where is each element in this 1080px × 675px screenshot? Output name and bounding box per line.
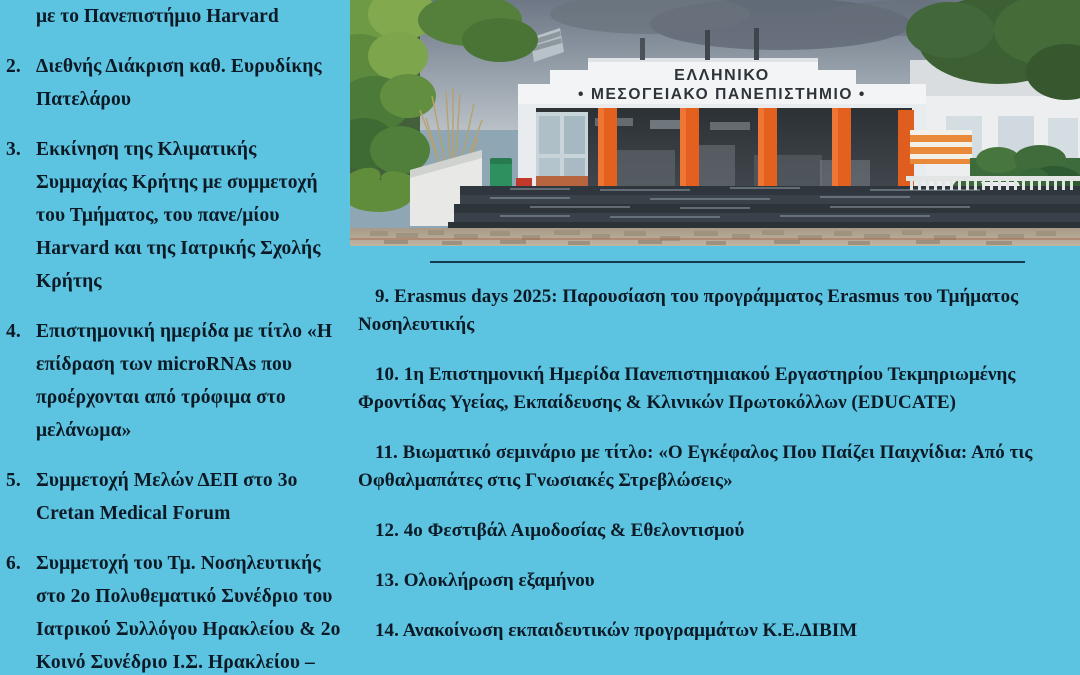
list-item: 10. 1η Επιστημονική Ημερίδα Πανεπιστημια… (358, 361, 1050, 417)
list-item-number: 6. (6, 547, 32, 580)
list-item-text: Συμμετοχή Μελών ΔΕΠ στο 3ο Cretan Medica… (36, 464, 342, 530)
list-item: 14. Ανακοίνωση εκπαιδευτικών προγραμμάτω… (358, 617, 1050, 645)
left-item-continuation-line: με το Πανεπιστήμιο Harvard (0, 0, 350, 33)
list-item-text: Εκκίνηση της Κλιματικής Συμμαχίας Κρήτης… (36, 133, 342, 298)
list-item-text: Συμμετοχή του Τμ. Νοσηλευτικής στο 2ο Πο… (36, 547, 342, 675)
list-item-number: 5. (6, 464, 32, 497)
list-item: 4. Επιστημονική ημερίδα με τίτλο «Η επίδ… (0, 315, 350, 447)
list-item: 2. Διεθνής Διάκριση καθ. Ευρυδίκης Πατελ… (0, 50, 350, 116)
left-column: με το Πανεπιστήμιο Harvard 2. Διεθνής Δι… (0, 0, 350, 675)
list-item-number: 4. (6, 315, 32, 348)
building-sign-line1: ΕΛΛΗΝΙΚΟ (674, 67, 770, 84)
list-item-text: Διεθνής Διάκριση καθ. Ευρυδίκης Πατελάρο… (36, 50, 342, 116)
university-building-photo: ΕΛΛΗΝΙΚΟ • ΜΕΣΟΓΕΙΑΚΟ ΠΑΝΕΠΙΣΤΗΜΙΟ • (350, 0, 1080, 246)
poster-page: με το Πανεπιστήμιο Harvard 2. Διεθνής Δι… (0, 0, 1080, 675)
list-item-number: 2. (6, 50, 32, 83)
right-column: ΕΛΛΗΝΙΚΟ • ΜΕΣΟΓΕΙΑΚΟ ΠΑΝΕΠΙΣΤΗΜΙΟ • (350, 0, 1080, 675)
list-item: 3. Εκκίνηση της Κλιματικής Συμμαχίας Κρή… (0, 133, 350, 298)
list-item: 11. Βιωματικό σεμινάριο με τίτλο: «Ο Εγκ… (358, 439, 1050, 495)
list-item: 6. Συμμετοχή του Τμ. Νοσηλευτικής στο 2ο… (0, 547, 350, 675)
list-item-number: 3. (6, 133, 32, 166)
list-item: 9. Erasmus days 2025: Παρουσίαση του προ… (358, 283, 1050, 339)
right-list: 9. Erasmus days 2025: Παρουσίαση του προ… (350, 283, 1050, 667)
building-sign-line2: • ΜΕΣΟΓΕΙΑΚΟ ΠΑΝΕΠΙΣΤΗΜΙΟ • (578, 86, 866, 103)
list-item-text: Επιστημονική ημερίδα με τίτλο «Η επίδρασ… (36, 315, 342, 447)
list-item: 13. Ολοκλήρωση εξαμήνου (358, 567, 1050, 595)
list-item: 12. 4ο Φεστιβάλ Αιμοδοσίας & Εθελοντισμο… (358, 517, 1050, 545)
section-divider (430, 261, 1025, 263)
list-item: 5. Συμμετοχή Μελών ΔΕΠ στο 3ο Cretan Med… (0, 464, 350, 530)
photo-illustration: ΕΛΛΗΝΙΚΟ • ΜΕΣΟΓΕΙΑΚΟ ΠΑΝΕΠΙΣΤΗΜΙΟ • (350, 0, 1080, 246)
